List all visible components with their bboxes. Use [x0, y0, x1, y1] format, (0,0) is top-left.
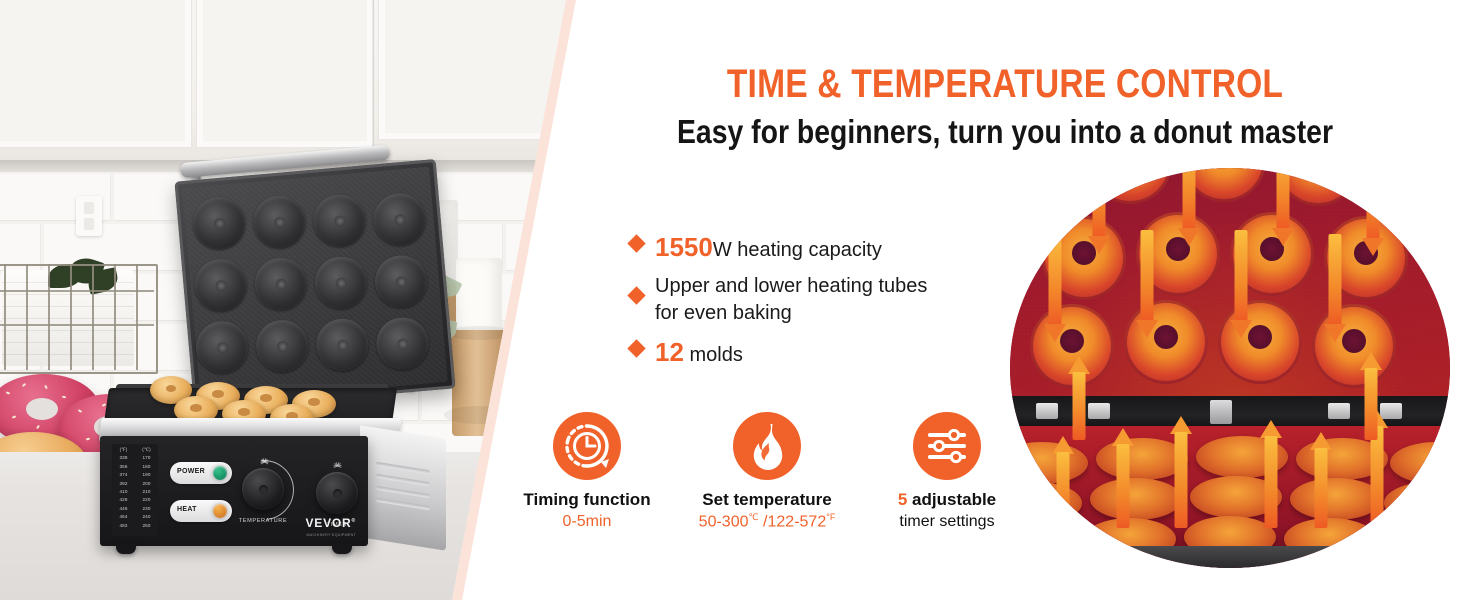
page-subtitle: Easy for beginners, turn you into a donu… [657, 113, 1354, 151]
temp-fahrenheit: /122-572 [759, 513, 827, 530]
feature-value: 0-5min [502, 512, 672, 531]
bullet-line-2: for even baking [655, 300, 927, 326]
diamond-bullet-icon [627, 339, 645, 357]
feature-label-text: adjustable [907, 490, 996, 509]
bullet-number: 1550 [655, 232, 713, 262]
heat-arrow-up [1112, 428, 1134, 528]
feature-value: timer settings [862, 512, 1032, 531]
fahrenheit-symbol: °F [826, 512, 835, 522]
heat-arrow-up [1260, 420, 1282, 528]
heat-arrow-down [1362, 168, 1384, 256]
diamond-bullet-icon [627, 234, 645, 252]
heat-arrow-down [1230, 230, 1252, 340]
heat-arrow-up [1052, 436, 1074, 528]
heat-arrow-down [1178, 168, 1200, 246]
heat-arrow-up [1068, 356, 1090, 440]
feature-icon-row: Timing function 0-5min Set temperature 5… [502, 412, 1032, 532]
feature-count: 5 [898, 490, 907, 509]
clock-icon [553, 412, 621, 480]
feature-temperature: Set temperature 50-300℃ /122-572°F [682, 412, 852, 532]
list-item: 12 molds [630, 335, 1010, 369]
bullet-line-1: Upper and lower heating tubes [655, 273, 927, 299]
feature-label: 5 adjustable [862, 490, 1032, 510]
heat-arrow-down [1136, 230, 1158, 340]
list-item: Upper and lower heating tubes for even b… [630, 273, 1010, 326]
sliders-icon [913, 412, 981, 480]
thermal-lower-plate [1010, 426, 1450, 568]
bullet-text: 1550W heating capacity [655, 230, 882, 264]
right-content-panel: TIME & TEMPERATURE CONTROL Easy for begi… [0, 0, 1464, 600]
diamond-bullet-icon [627, 287, 645, 305]
heat-arrow-up [1360, 352, 1382, 440]
flame-icon [733, 412, 801, 480]
bullet-text: Upper and lower heating tubes for even b… [655, 273, 927, 326]
page-title: TIME & TEMPERATURE CONTROL [665, 62, 1345, 107]
product-feature-banner: (℉) 338 356 374 392 410 428 446 464 482 … [0, 0, 1464, 600]
list-item: 1550W heating capacity [630, 230, 1010, 264]
heat-arrow-up [1170, 416, 1192, 528]
heat-arrow-up [1310, 432, 1332, 528]
heat-flow-illustration [1010, 168, 1464, 568]
bullet-number: 12 [655, 337, 684, 367]
feature-label: Timing function [502, 490, 672, 510]
feature-timing: Timing function 0-5min [502, 412, 672, 532]
heat-arrow-down [1044, 234, 1066, 344]
temp-celsius: 50-300 [699, 513, 749, 530]
celsius-symbol: ℃ [749, 512, 759, 522]
feature-value: 50-300℃ /122-572°F [682, 512, 852, 532]
bullet-unit: W heating capacity [713, 239, 882, 261]
heat-arrow-down [1272, 168, 1294, 246]
feature-bullet-list: 1550W heating capacity Upper and lower h… [630, 230, 1010, 378]
heat-arrow-down [1088, 168, 1110, 254]
bullet-text: 12 molds [655, 335, 743, 369]
feature-timer-settings: 5 adjustable timer settings [862, 412, 1032, 532]
heat-arrow-down [1324, 234, 1346, 344]
bullet-unit: molds [684, 344, 743, 366]
feature-label: Set temperature [682, 490, 852, 510]
